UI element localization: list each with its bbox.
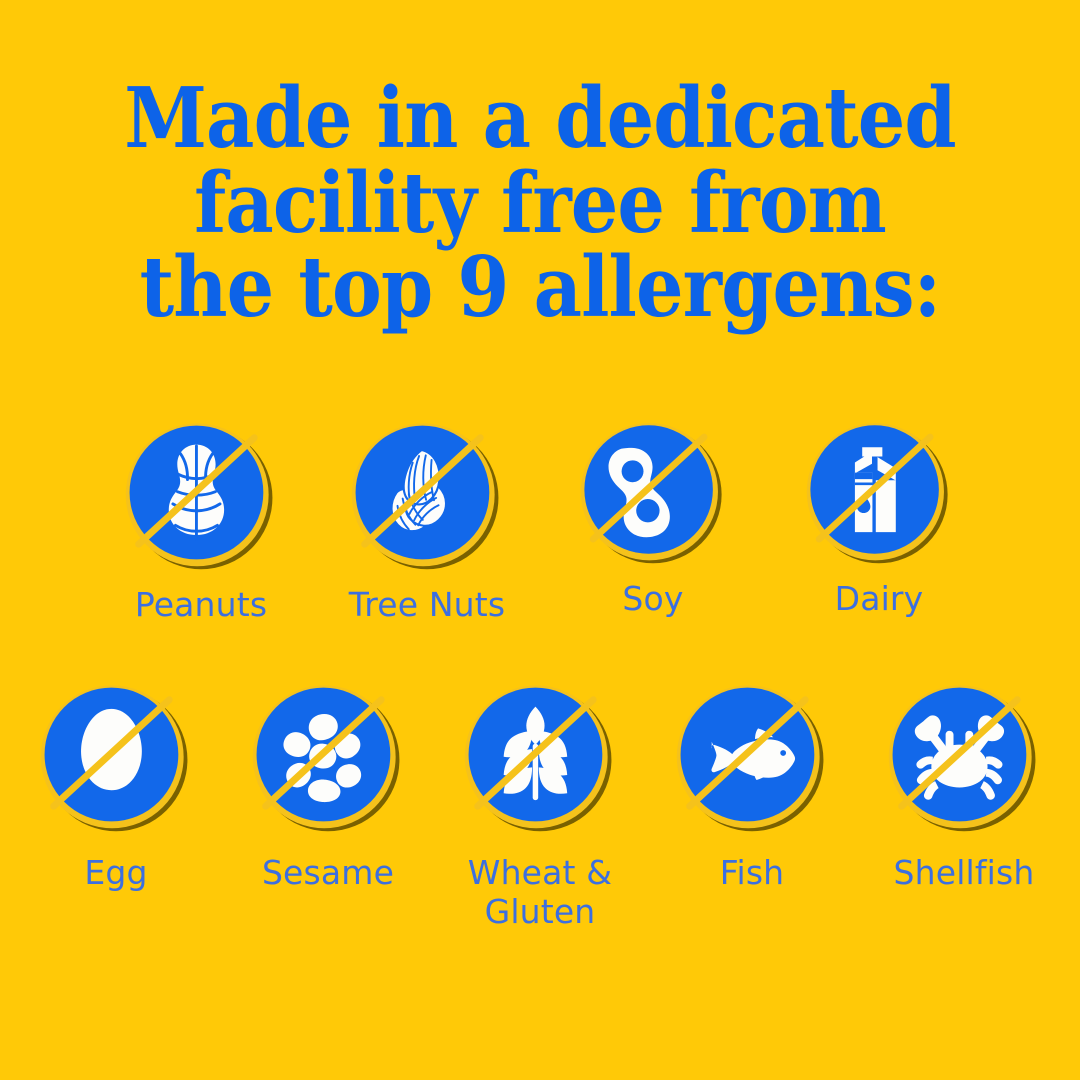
- allergen-row-2: Egg: [22, 680, 1058, 931]
- allergen-row-1: Peanuts: [107, 418, 973, 624]
- headline-line-3: the top 9 allergens:: [54, 245, 1026, 330]
- allergen-label: Sesame: [262, 854, 394, 892]
- sesame-seeds-icon: [252, 680, 404, 832]
- wheat-stalk-icon: [464, 680, 616, 832]
- page-title: Made in a dedicated facility free from t…: [54, 76, 1026, 330]
- headline-line-1: Made in a dedicated: [54, 76, 1026, 161]
- allergen-label: Fish: [720, 854, 785, 892]
- peanut-icon: [125, 418, 277, 570]
- allergen-label: Peanuts: [135, 586, 267, 624]
- allergen-label: Dairy: [835, 580, 924, 618]
- allergen-item-dairy: Dairy: [785, 418, 973, 618]
- allergen-label: Egg: [84, 854, 147, 892]
- allergen-item-soy: Soy: [559, 418, 747, 618]
- allergen-label: Shellfish: [894, 854, 1035, 892]
- allergen-item-wheat-gluten: Wheat & Gluten: [446, 680, 634, 931]
- almond-icon: [351, 418, 503, 570]
- allergen-label: Soy: [622, 580, 683, 618]
- allergen-label: Tree Nuts: [349, 586, 505, 624]
- allergen-label: Wheat & Gluten: [468, 854, 612, 931]
- allergen-item-egg: Egg: [22, 680, 210, 892]
- headline-line-2: facility free from: [54, 161, 1026, 246]
- allergen-item-sesame: Sesame: [234, 680, 422, 892]
- fish-icon: [676, 680, 828, 832]
- soybean-icon: [580, 418, 726, 564]
- egg-icon: [40, 680, 192, 832]
- crab-icon: [888, 680, 1040, 832]
- milk-carton-icon: [806, 418, 952, 564]
- allergen-item-peanuts: Peanuts: [107, 418, 295, 624]
- allergen-free-infographic: Made in a dedicated facility free from t…: [0, 0, 1080, 1080]
- allergen-item-fish: Fish: [658, 680, 846, 892]
- allergen-item-shellfish: Shellfish: [870, 680, 1058, 892]
- allergen-item-tree-nuts: Tree Nuts: [333, 418, 521, 624]
